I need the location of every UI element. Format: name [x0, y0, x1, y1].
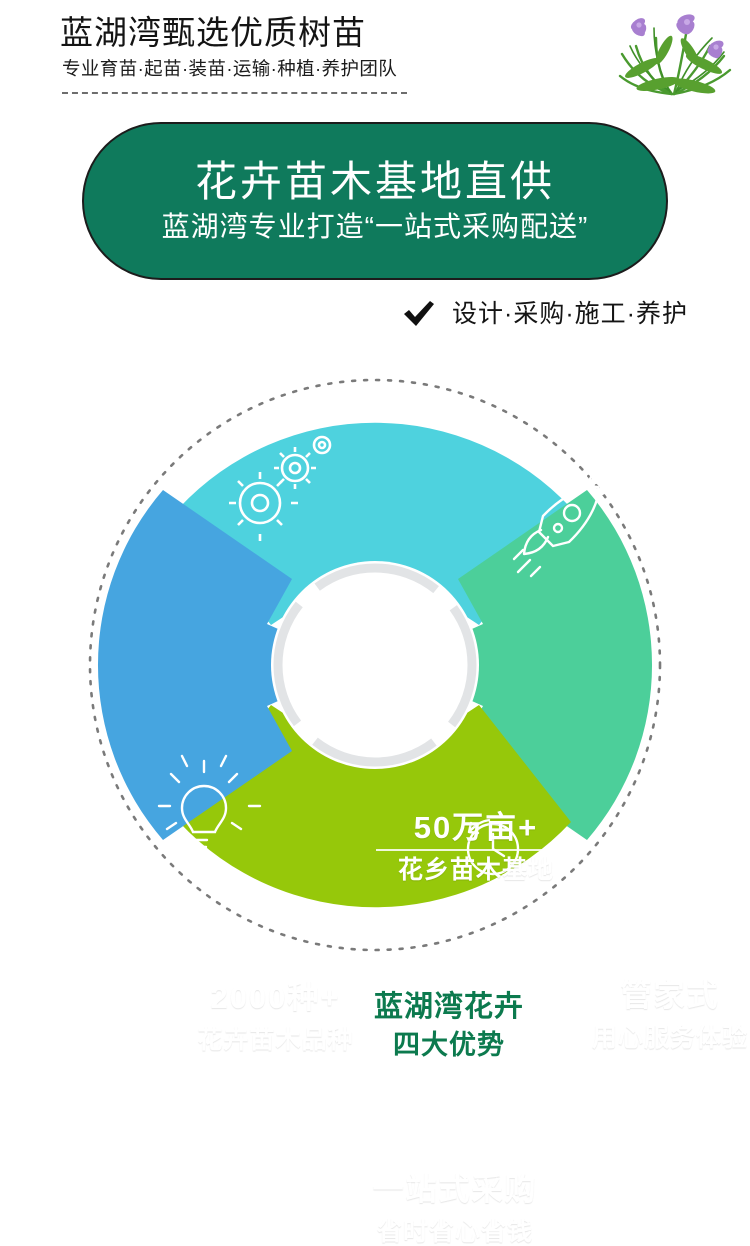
check-mark-icon [402, 300, 436, 328]
segment-top-subline: 花乡苗木基地 [366, 857, 586, 884]
segment-label-top: 50万亩+ 花乡苗木基地 [366, 811, 586, 884]
segment-right-rule [582, 1017, 750, 1019]
center-disc [271, 561, 479, 769]
segment-label-bottom: 一站式采购 省时省心省钱 [345, 1173, 565, 1246]
segment-top-rule [376, 849, 576, 851]
segment-right-subline: 用心服务体验 [575, 1025, 750, 1052]
wheel-center-label: 蓝湖湾花卉 四大优势 [359, 991, 539, 1061]
header-subtitle: 专业育苗·起苗·装苗·运输·种植·养护团队 [62, 60, 397, 79]
segment-bottom-subline: 省时省心省钱 [345, 1219, 565, 1246]
segment-right-headline: 管家式 [575, 979, 750, 1012]
segment-label-left: 2000种+ 花卉苗木品种 [173, 981, 378, 1054]
service-highlights-row: 设计·采购·施工·养护 [402, 300, 688, 328]
segment-top-headline: 50万亩+ [366, 811, 586, 844]
center-line-primary: 蓝湖湾花卉 [359, 991, 539, 1023]
segment-left-subline: 花卉苗木品种 [173, 1027, 378, 1054]
advantages-wheel-diagram: 50万亩+ 花乡苗木基地 管家式 用心服务体验 一站式采购 省时省心省钱 200… [75, 368, 675, 963]
page-header: 蓝湖湾甄选优质树苗 专业育苗·起苗·装苗·运输·种植·养护团队 [0, 0, 750, 110]
banner-subtitle: 蓝湖湾专业打造“一站式采购配送” [162, 210, 589, 244]
service-highlights-text: 设计·采购·施工·养护 [452, 302, 688, 327]
segment-bottom-headline: 一站式采购 [345, 1173, 565, 1206]
header-divider [62, 92, 407, 94]
banner-title: 花卉苗木基地直供 [195, 158, 555, 206]
segment-label-right: 管家式 用心服务体验 [575, 979, 750, 1052]
segment-left-headline: 2000种+ [173, 981, 378, 1014]
header-title: 蓝湖湾甄选优质树苗 [60, 16, 366, 49]
segment-bottom-rule [357, 1211, 553, 1213]
headline-banner: 花卉苗木基地直供 蓝湖湾专业打造“一站式采购配送” [82, 122, 668, 280]
center-line-secondary: 四大优势 [359, 1030, 539, 1060]
segment-left-rule [178, 1019, 374, 1021]
iris-plant-photo [612, 2, 738, 104]
